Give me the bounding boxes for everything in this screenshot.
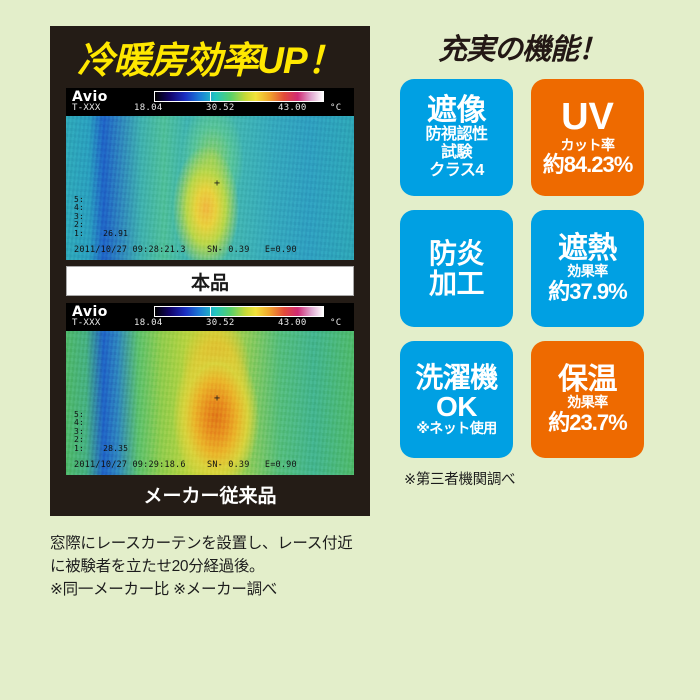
feature-tile-hoon[interactable]: 保温 効果率 約23.7%: [531, 341, 644, 458]
thermal-scale-labels: T-XXX 18.04 30.52 43.00 °C: [72, 318, 348, 330]
thermal-scale-mid: 30.52: [206, 103, 235, 113]
feature-main-label-line2: OK: [436, 392, 477, 421]
thermal-comparison-panel: 冷暖房効率UP！ Avio T-XXX 18.04 30.52 43.00 °C: [50, 26, 370, 516]
thermal-model: T-XXX: [72, 103, 101, 113]
timestamp-text: 2011/10/27 09:29:18.6: [74, 460, 186, 470]
features-title: 充実の機能！: [388, 26, 656, 68]
thermal-timestamp-product: 2011/10/27 09:28:21.3 SN- 0.39 E=0.90: [74, 245, 297, 255]
timestamp-text: 2011/10/27 09:28:21.3: [74, 245, 186, 255]
marker-1-label: 1:: [74, 444, 84, 453]
temperature-value-conventional: 28.35: [89, 444, 128, 453]
scale-ticks: [154, 91, 324, 102]
test-conditions-caption: 窓際にレースカーテンを設置し、レース付近 に被験者を立たせ20分経過後。 ※同一…: [50, 532, 380, 601]
thermal-header-conventional: Avio T-XXX 18.04 30.52 43.00 °C: [66, 303, 354, 331]
infographic-page: 冷暖房効率UP！ Avio T-XXX 18.04 30.52 43.00 °C: [0, 0, 700, 700]
thermal-model: T-XXX: [72, 318, 101, 328]
feature-sub-label-2: 試験: [441, 144, 472, 162]
feature-main-label-line1: 洗濯機: [415, 363, 498, 392]
thermal-image-conventional: Avio T-XXX 18.04 30.52 43.00 °C + 5: [66, 303, 354, 475]
feature-main-label-line2: 加工: [429, 269, 484, 298]
cursor-crosshair-icon: +: [214, 178, 220, 189]
emissivity-value: E=0.90: [255, 245, 297, 255]
marker-1: 1: 28.35: [74, 445, 128, 454]
caption-line-3: ※同一メーカー比 ※メーカー調べ: [50, 578, 380, 601]
label-product: 本品: [66, 266, 354, 296]
thermal-scale-unit: °C: [330, 103, 341, 113]
feature-sub-label-1: 効果率: [567, 395, 608, 411]
scale-ticks: [154, 306, 324, 317]
sn-value: SN- 0.39: [191, 245, 250, 255]
thermal-scale-max: 43.00: [278, 103, 307, 113]
feature-main-label: 遮熱: [558, 233, 617, 264]
feature-main-label: 遮像: [427, 95, 486, 126]
emissivity-value: E=0.90: [255, 460, 297, 470]
caption-line-1: 窓際にレースカーテンを設置し、レース付近: [50, 532, 380, 555]
thermal-readout-product: 5: 4: 3: 2: 1: 26.91: [74, 196, 128, 239]
thermal-readout-conventional: 5: 4: 3: 2: 1: 28.35: [74, 411, 128, 454]
thermal-header-product: Avio T-XXX 18.04 30.52 43.00 °C: [66, 88, 354, 116]
marker-1-label: 1:: [74, 229, 84, 238]
feature-main-label: UV: [561, 98, 614, 138]
feature-sub-label-1: 防視認性: [425, 126, 487, 144]
feature-tile-sentakuki[interactable]: 洗濯機 OK ※ネット使用: [400, 341, 513, 458]
cursor-crosshair-icon: +: [214, 393, 220, 404]
feature-main-label: 保温: [558, 364, 617, 395]
feature-tile-shazou[interactable]: 遮像 防視認性 試験 クラス4: [400, 79, 513, 196]
thermal-noise-overlay: [66, 331, 354, 475]
thermal-scale-mid: 30.52: [206, 318, 235, 328]
temperature-value-product: 26.91: [89, 229, 128, 238]
thermal-body-conventional: + 5: 4: 3: 2: 1: 28.35 2011/10/27 09:29:…: [66, 331, 354, 475]
feature-value: 約84.23%: [543, 153, 633, 177]
caption-line-2: に被験者を立たせ20分経過後。: [50, 555, 380, 578]
thermal-scale-max: 43.00: [278, 318, 307, 328]
features-footnote: ※第三者機関調べ: [388, 468, 656, 489]
feature-value: 約37.9%: [548, 280, 626, 304]
feature-sub-label-1: ※ネット使用: [416, 421, 497, 437]
feature-sub-label-3: クラス4: [429, 162, 484, 180]
label-conventional: メーカー従来品: [66, 477, 354, 511]
feature-sub-label-1: カット率: [561, 138, 615, 154]
marker-1: 1: 26.91: [74, 230, 128, 239]
thermal-body-product: + 5: 4: 3: 2: 1: 26.91 2011/10/27 09:28:…: [66, 116, 354, 260]
thermal-image-product: Avio T-XXX 18.04 30.52 43.00 °C + 5: [66, 88, 354, 260]
thermal-scale-min: 18.04: [134, 318, 163, 328]
sn-value: SN- 0.39: [191, 460, 250, 470]
thermal-scale-min: 18.04: [134, 103, 163, 113]
thermal-scale-labels: T-XXX 18.04 30.52 43.00 °C: [72, 103, 348, 115]
headline: 冷暖房効率UP！: [50, 26, 370, 88]
feature-tile-bouen[interactable]: 防炎 加工: [400, 210, 513, 327]
feature-tile-shanetsu[interactable]: 遮熱 効果率 約37.9%: [531, 210, 644, 327]
features-panel: 充実の機能！ 遮像 防視認性 試験 クラス4 UV カット率 約84.23% 防…: [388, 26, 656, 489]
feature-sub-label-1: 効果率: [567, 264, 608, 280]
feature-tile-uv[interactable]: UV カット率 約84.23%: [531, 79, 644, 196]
features-grid: 遮像 防視認性 試験 クラス4 UV カット率 約84.23% 防炎 加工 遮熱…: [388, 79, 656, 458]
feature-value: 約23.7%: [548, 411, 626, 435]
thermal-scale-unit: °C: [330, 318, 341, 328]
thermal-noise-overlay: [66, 116, 354, 260]
thermal-timestamp-conventional: 2011/10/27 09:29:18.6 SN- 0.39 E=0.90: [74, 460, 297, 470]
spacer: [50, 296, 370, 303]
feature-main-label-line1: 防炎: [429, 239, 484, 268]
